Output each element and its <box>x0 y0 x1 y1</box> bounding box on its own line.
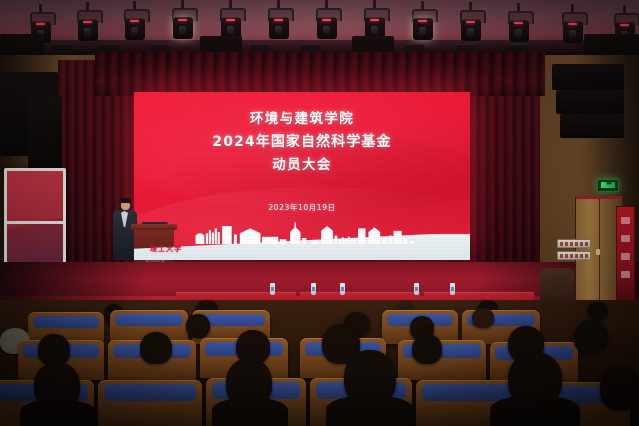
stage-valance <box>95 52 545 96</box>
running-man-icon <box>601 182 615 188</box>
moving-head-light <box>75 10 101 44</box>
wall-banner <box>616 206 635 300</box>
city-skyline-graphic <box>194 220 416 244</box>
side-chair <box>540 268 574 304</box>
door-handle[interactable] <box>596 249 600 255</box>
water-bottle <box>414 283 419 295</box>
attendee <box>600 366 639 410</box>
board-divider <box>7 221 63 224</box>
line-array-speaker-left <box>28 96 62 168</box>
attendee <box>472 308 494 328</box>
attendee-shoulders <box>326 396 414 426</box>
moving-head-light <box>266 8 292 42</box>
auditorium-seat[interactable] <box>98 380 202 426</box>
wall-plaque <box>557 251 591 260</box>
university-watermark: 理工大学 <box>150 244 182 254</box>
line-array-speaker-right <box>560 114 624 138</box>
moving-head-light <box>170 8 196 42</box>
attendee-shoulders <box>490 396 580 426</box>
moving-head-light <box>458 10 484 44</box>
exit-sign <box>597 179 619 192</box>
moving-head-light <box>314 8 340 42</box>
attendee <box>186 314 210 338</box>
slide-title-line-2: 2024年国家自然科学基金 <box>134 131 470 154</box>
slide-title: 环境与建筑学院 2024年国家自然科学基金 动员大会 <box>134 108 470 177</box>
moving-head-light <box>506 11 532 45</box>
attendee <box>412 334 442 364</box>
slide-title-line-1: 环境与建筑学院 <box>134 108 470 131</box>
podium-top <box>131 224 177 230</box>
slide-date: 2023年10月19日 <box>134 202 470 213</box>
line-array-speaker-right <box>552 64 624 90</box>
water-bottle <box>340 283 345 295</box>
moving-head-light <box>122 9 148 43</box>
water-bottle <box>311 283 316 295</box>
wall-plaque <box>557 239 591 248</box>
line-array-speaker-right <box>556 90 624 114</box>
moving-head-light <box>560 12 586 46</box>
led-presentation-screen: 环境与建筑学院 2024年国家自然科学基金 动员大会 2023年10月19日 <box>134 92 470 260</box>
attendee <box>140 332 172 364</box>
audience-area <box>0 300 639 426</box>
presenter-hair <box>119 198 131 203</box>
attendee <box>574 320 608 354</box>
attendee-shoulders <box>20 400 96 426</box>
attendee-shoulders <box>212 398 288 426</box>
auditorium-photo: 环境与建筑学院 2024年国家自然科学基金 动员大会 2023年10月19日 <box>0 0 639 426</box>
slide-title-line-3: 动员大会 <box>134 154 470 177</box>
moving-head-light <box>410 9 436 43</box>
water-bottle <box>450 283 455 295</box>
water-bottle <box>270 283 275 295</box>
attendee <box>588 302 608 320</box>
